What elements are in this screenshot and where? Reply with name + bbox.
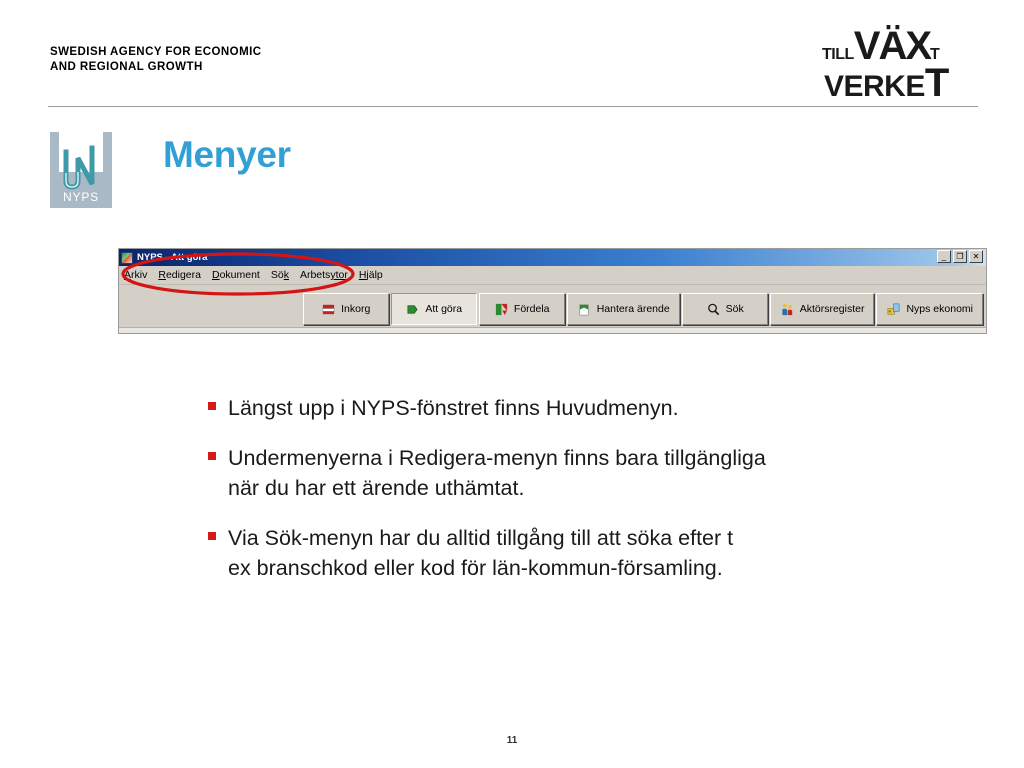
toolbar-label-inkorg: Inkorg bbox=[341, 303, 370, 315]
toolbar-label-att-gora: Att göra bbox=[425, 303, 462, 315]
window-title: NYPS - Att göra bbox=[137, 252, 207, 263]
folder-icon bbox=[577, 302, 592, 317]
bullet-square-icon bbox=[208, 402, 216, 410]
bullet-text: Via Sök-menyn har du alltid tillgång til… bbox=[228, 523, 733, 583]
people-icon bbox=[780, 302, 795, 317]
brand-line-1: TILLVÄXT bbox=[822, 28, 982, 65]
toolbar-button-fordela[interactable]: Fördela bbox=[479, 293, 565, 325]
application-icon bbox=[121, 252, 133, 264]
list-item: Längst upp i NYPS-fönstret finns Huvudme… bbox=[208, 393, 998, 423]
header-divider bbox=[48, 106, 978, 107]
slide: SWEDISH AGENCY FOR ECONOMIC AND REGIONAL… bbox=[0, 0, 1024, 768]
bullet-square-icon bbox=[208, 452, 216, 460]
menu-item-redigera[interactable]: Redigera bbox=[158, 269, 201, 281]
menu-item-arbetsytor[interactable]: Arbetsytor bbox=[300, 269, 348, 281]
toolbar-button-sok[interactable]: Sök bbox=[682, 293, 768, 325]
restore-icon[interactable]: ❐ bbox=[953, 250, 967, 263]
toolbar: Inkorg Att göra Fördela bbox=[119, 285, 986, 333]
toolbar-label-aktorsregister: Aktörsregister bbox=[800, 303, 865, 315]
toolbar-bottom-edge bbox=[119, 327, 986, 333]
brand-text-va: VÄ bbox=[854, 24, 906, 68]
nyps-application-window: NYPS - Att göra _ ❐ ✕ Arkiv Redigera Dok… bbox=[118, 248, 987, 334]
toolbar-label-sok: Sök bbox=[726, 303, 744, 315]
nyps-logo: NYPS bbox=[50, 132, 112, 208]
nyps-logo-label: NYPS bbox=[50, 190, 112, 204]
page-title: Menyer bbox=[163, 134, 291, 176]
toolbar-button-inkorg[interactable]: Inkorg bbox=[303, 293, 389, 325]
brand-line-2: VERKET bbox=[824, 65, 982, 102]
agency-name: SWEDISH AGENCY FOR ECONOMIC AND REGIONAL… bbox=[50, 45, 262, 75]
brand-text-t2: T bbox=[925, 61, 947, 105]
brand-text-till: TILL bbox=[822, 46, 854, 63]
menu-item-dokument[interactable]: Dokument bbox=[212, 269, 260, 281]
toolbar-label-nyps-ekonomi: Nyps ekonomi bbox=[906, 303, 973, 315]
green-arrow-icon bbox=[405, 302, 420, 317]
toolbar-button-nyps-ekonomi[interactable]: Nyps ekonomi bbox=[876, 293, 983, 325]
window-controls: _ ❐ ✕ bbox=[937, 250, 983, 263]
menu-item-arkiv[interactable]: Arkiv bbox=[124, 269, 147, 281]
list-item: Via Sök-menyn har du alltid tillgång til… bbox=[208, 523, 998, 583]
bullet-square-icon bbox=[208, 532, 216, 540]
bullet-text: Undermenyerna i Redigera-menyn finns bar… bbox=[228, 443, 766, 503]
close-icon[interactable]: ✕ bbox=[969, 250, 983, 263]
window-titlebar: NYPS - Att göra _ ❐ ✕ bbox=[119, 249, 986, 266]
inbox-tray-icon bbox=[321, 302, 336, 317]
list-item: Undermenyerna i Redigera-menyn finns bar… bbox=[208, 443, 998, 503]
toolbar-button-att-gora[interactable]: Att göra bbox=[391, 293, 477, 325]
menu-item-sok[interactable]: Sök bbox=[271, 269, 289, 281]
bullet-text: Längst upp i NYPS-fönstret finns Huvudme… bbox=[228, 393, 679, 423]
toolbar-label-hantera-arende: Hantera ärende bbox=[597, 303, 670, 315]
toolbar-button-hantera-arende[interactable]: Hantera ärende bbox=[567, 293, 680, 325]
menubar: Arkiv Redigera Dokument Sök Arbetsytor H… bbox=[119, 266, 986, 285]
tillvaxtverket-logo: TILLVÄXT VERKET bbox=[822, 28, 982, 90]
page-number: 11 bbox=[0, 735, 1024, 746]
brand-text-verke: VERKE bbox=[824, 70, 925, 103]
minimize-icon[interactable]: _ bbox=[937, 250, 951, 263]
economy-icon bbox=[886, 302, 901, 317]
menu-item-hjalp[interactable]: Hjälp bbox=[359, 269, 383, 281]
toolbar-label-fordela: Fördela bbox=[514, 303, 550, 315]
toolbar-button-aktorsregister[interactable]: Aktörsregister bbox=[770, 293, 875, 325]
bullet-list: Längst upp i NYPS-fönstret finns Huvudme… bbox=[208, 393, 998, 603]
magnifier-icon bbox=[706, 302, 721, 317]
distribute-icon bbox=[494, 302, 509, 317]
